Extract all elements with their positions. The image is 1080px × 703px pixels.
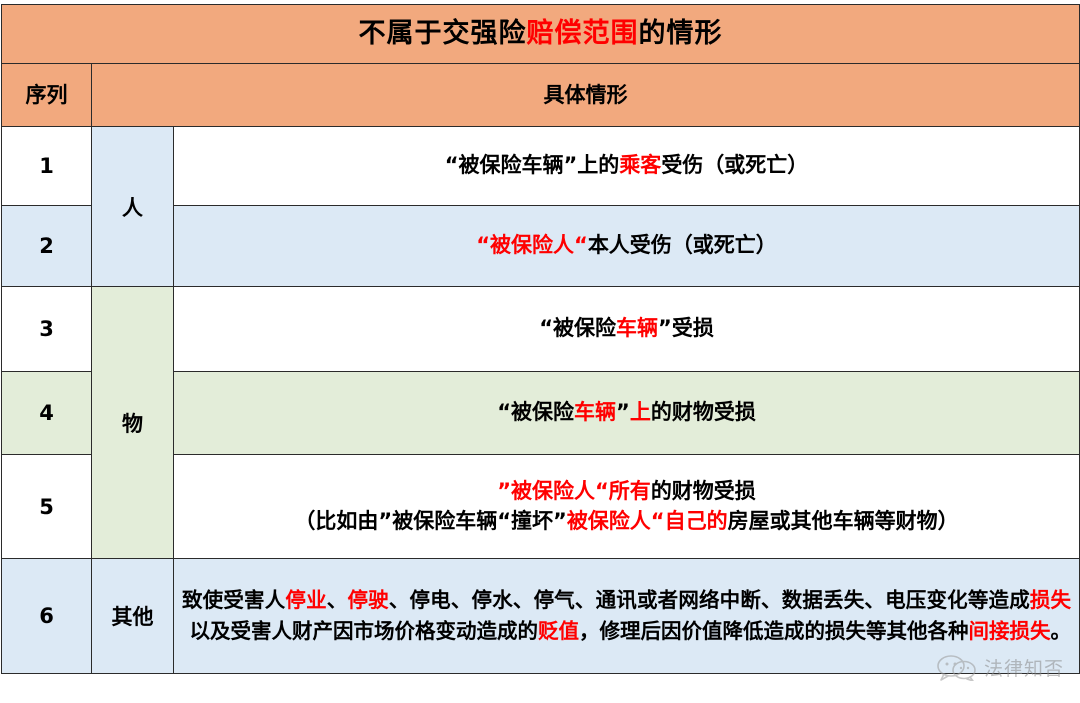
row-detail-5: ”被保险人“所有的财物受损 （比如由”被保险车辆“撞坏”被保险人“自己的房屋或其…	[174, 455, 1080, 559]
row-detail-1: “被保险车辆”上的乘客受伤（或死亡）	[174, 127, 1080, 206]
row-category-people: 人	[92, 127, 174, 287]
row-detail-2: “被保险人“本人受伤（或死亡）	[174, 206, 1080, 287]
row-detail-3: “被保险车辆”受损	[174, 287, 1080, 372]
table-row: 1 人 “被保险车辆”上的乘客受伤（或死亡）	[2, 127, 1080, 206]
row-sequence-4: 4	[2, 372, 92, 455]
title-row: 不属于交强险赔偿范围的情形	[2, 5, 1080, 64]
page-title: 不属于交强险赔偿范围的情形	[2, 5, 1080, 64]
row-detail-4: “被保险车辆”上的财物受损	[174, 372, 1080, 455]
row-sequence-2: 2	[2, 206, 92, 287]
row-category-other: 其他	[92, 559, 174, 674]
column-header-sequence: 序列	[2, 64, 92, 127]
row-sequence-3: 3	[2, 287, 92, 372]
row-detail-6: 致使受害人停业、停驶、停电、停水、停气、通讯或者网络中断、数据丢失、电压变化等造…	[174, 559, 1080, 674]
row-category-things: 物	[92, 287, 174, 559]
column-header-detail: 具体情形	[92, 64, 1080, 127]
header-row: 序列 具体情形	[2, 64, 1080, 127]
row-sequence-1: 1	[2, 127, 92, 206]
table-row: 6 其他 致使受害人停业、停驶、停电、停水、停气、通讯或者网络中断、数据丢失、电…	[2, 559, 1080, 674]
table-row: 3 物 “被保险车辆”受损	[2, 287, 1080, 372]
spreadsheet-canvas: 不属于交强险赔偿范围的情形 序列 具体情形 1 人 “被保险车辆”上的乘客受伤（…	[0, 4, 1080, 703]
table-body: 不属于交强险赔偿范围的情形 序列 具体情形 1 人 “被保险车辆”上的乘客受伤（…	[2, 5, 1080, 674]
row-sequence-5: 5	[2, 455, 92, 559]
row-sequence-6: 6	[2, 559, 92, 674]
coverage-exclusions-table: 不属于交强险赔偿范围的情形 序列 具体情形 1 人 “被保险车辆”上的乘客受伤（…	[1, 4, 1080, 674]
